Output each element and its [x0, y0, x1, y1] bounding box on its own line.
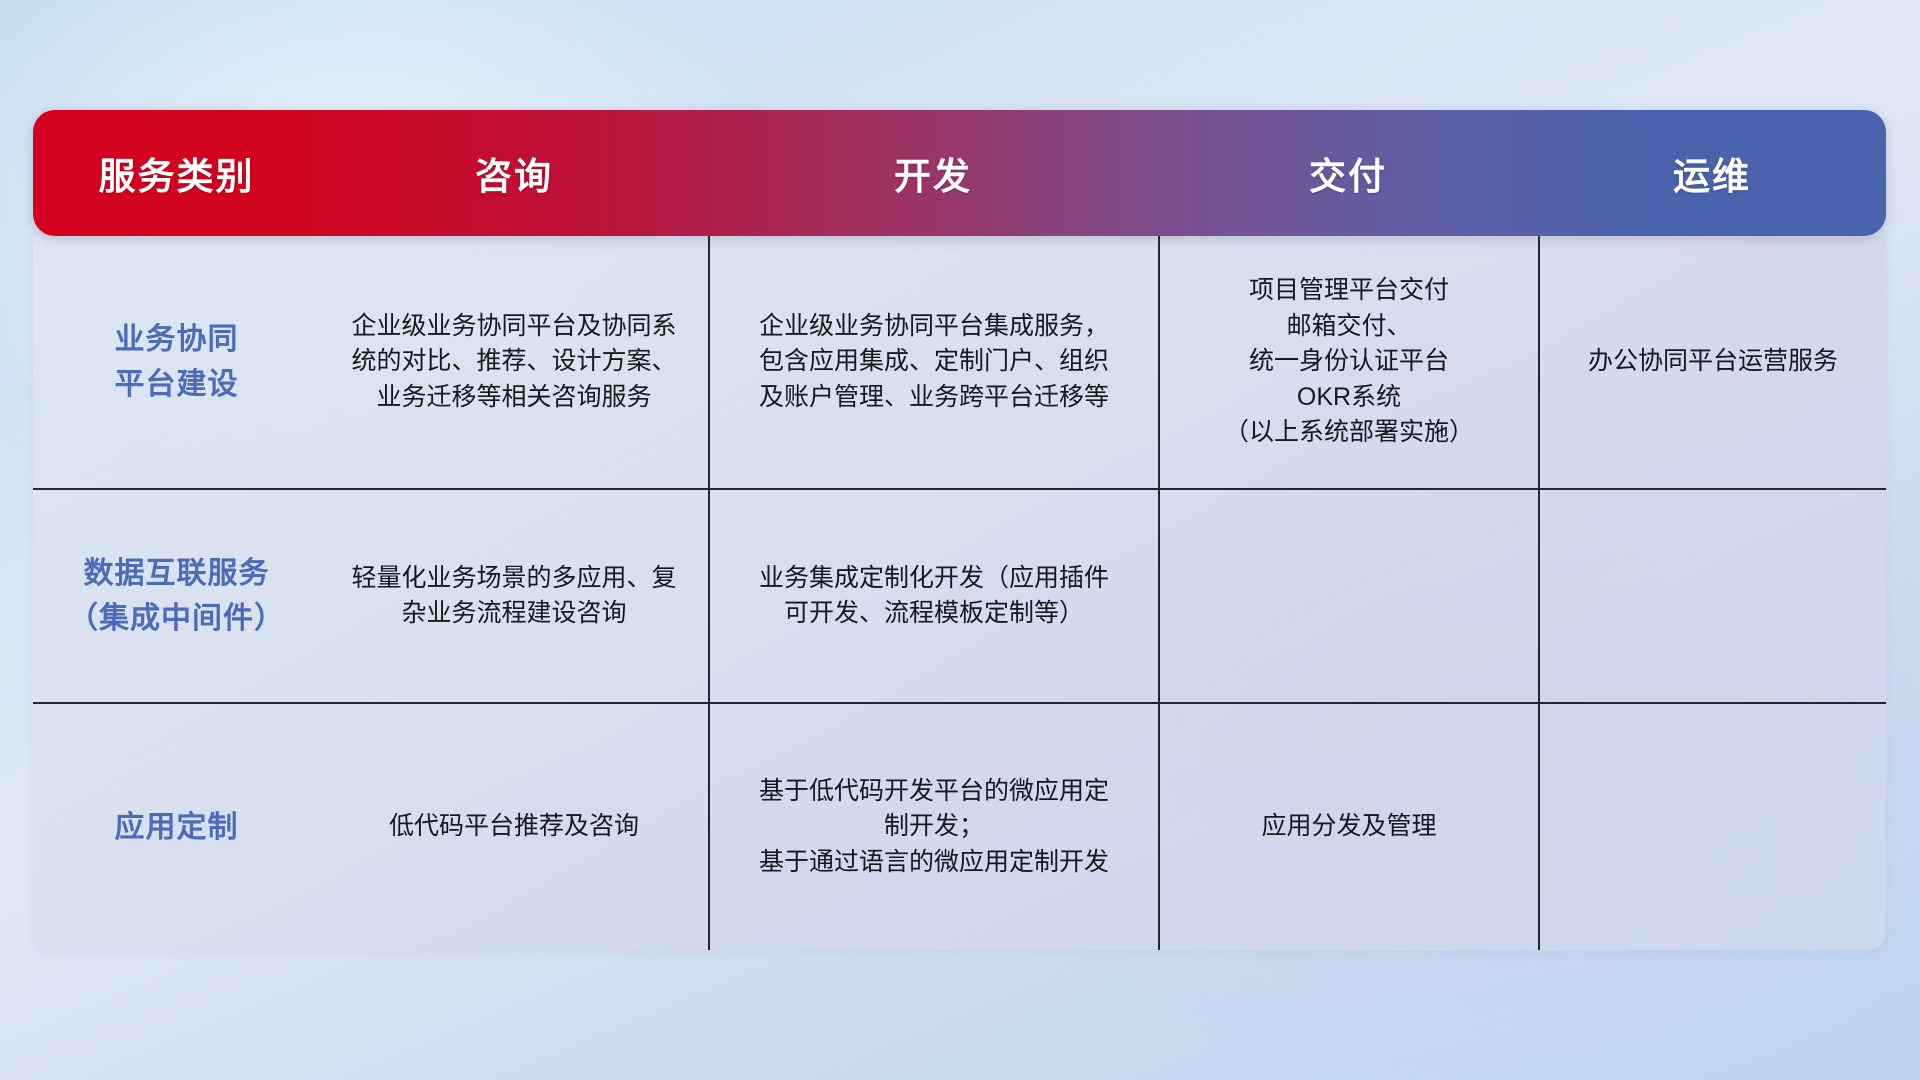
- cell-development: 基于低代码开发平台的微应用定 制开发； 基于通过语言的微应用定制开发: [708, 704, 1158, 950]
- column-header-operations: 运维: [1538, 146, 1886, 200]
- table-body: 业务协同 平台建设 企业级业务协同平台及协同系 统的对比、推荐、设计方案、 业务…: [33, 236, 1886, 950]
- cell-operations: 办公协同平台运营服务: [1538, 236, 1886, 488]
- table-header-row: 服务类别 咨询 开发 交付 运维: [33, 110, 1886, 236]
- cell-consulting: 轻量化业务场景的多应用、复 杂业务流程建设咨询: [320, 490, 708, 702]
- table-row: 业务协同 平台建设 企业级业务协同平台及协同系 统的对比、推荐、设计方案、 业务…: [33, 236, 1886, 488]
- table-row: 数据互联服务 （集成中间件） 轻量化业务场景的多应用、复 杂业务流程建设咨询 业…: [33, 488, 1886, 702]
- service-matrix-table: 服务类别 咨询 开发 交付 运维 业务协同 平台建设 企业级业务协同平台及协同系…: [33, 110, 1886, 950]
- row-category-label: 应用定制: [33, 704, 320, 950]
- column-header-development: 开发: [708, 146, 1158, 200]
- cell-delivery: [1158, 490, 1538, 702]
- cell-development: 企业级业务协同平台集成服务， 包含应用集成、定制门户、组织 及账户管理、业务跨平…: [708, 236, 1158, 488]
- column-header-delivery: 交付: [1158, 146, 1538, 200]
- cell-delivery: 项目管理平台交付 邮箱交付、 统一身份认证平台 OKR系统 （以上系统部署实施）: [1158, 236, 1538, 488]
- row-category-label: 业务协同 平台建设: [33, 236, 320, 488]
- slide-canvas: 服务类别 咨询 开发 交付 运维 业务协同 平台建设 企业级业务协同平台及协同系…: [0, 0, 1920, 1080]
- cell-operations: [1538, 704, 1886, 950]
- cell-delivery: 应用分发及管理: [1158, 704, 1538, 950]
- column-header-consulting: 咨询: [320, 146, 708, 200]
- cell-operations: [1538, 490, 1886, 702]
- row-category-label: 数据互联服务 （集成中间件）: [33, 490, 320, 702]
- cell-development: 业务集成定制化开发（应用插件 可开发、流程模板定制等）: [708, 490, 1158, 702]
- cell-consulting: 企业级业务协同平台及协同系 统的对比、推荐、设计方案、 业务迁移等相关咨询服务: [320, 236, 708, 488]
- table-row: 应用定制 低代码平台推荐及咨询 基于低代码开发平台的微应用定 制开发； 基于通过…: [33, 702, 1886, 950]
- column-header-category: 服务类别: [33, 146, 320, 200]
- cell-consulting: 低代码平台推荐及咨询: [320, 704, 708, 950]
